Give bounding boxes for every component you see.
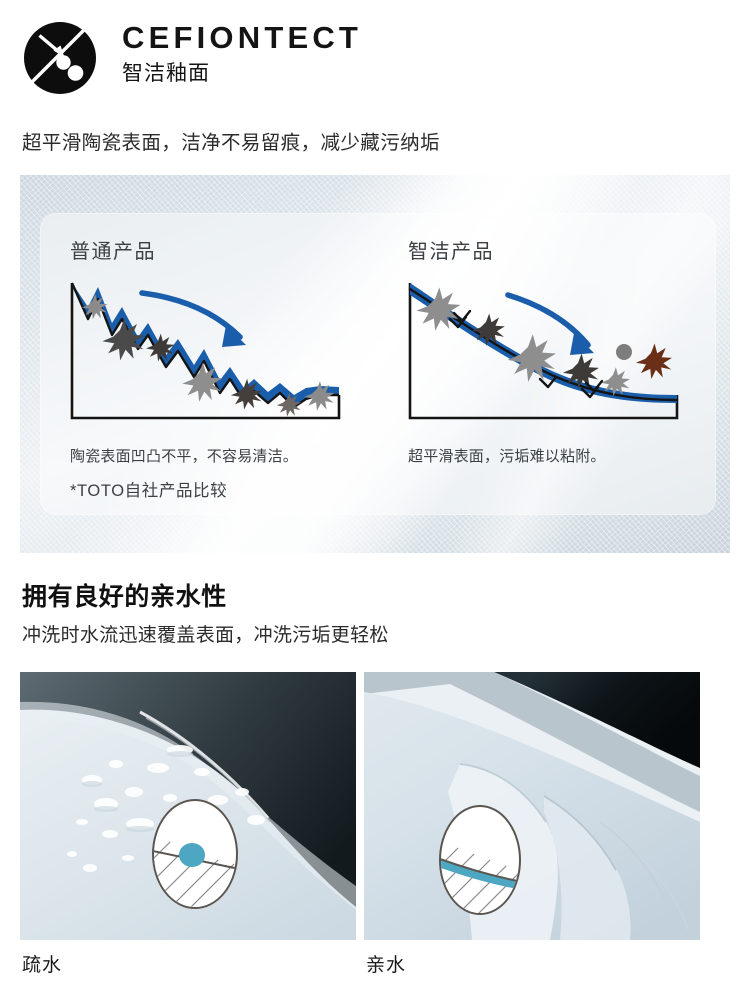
hydrophilic-subtitle: 冲洗时水流迅速覆盖表面，冲洗污垢更轻松 [22, 620, 389, 647]
comparison-card: 普通产品 [40, 213, 716, 515]
brand-subtitle: 智洁釉面 [122, 59, 362, 89]
dirt-particle [636, 344, 672, 380]
dirt-particle [616, 344, 632, 360]
rough-surface-diagram [54, 275, 354, 440]
brand-title: CEFIONTECT [122, 18, 362, 58]
panel-cefiontect-product: 智洁产品 [378, 213, 716, 515]
cefiontect-droplet-slide-icon [22, 20, 98, 96]
page-header: CEFIONTECT 智洁釉面 [22, 18, 722, 110]
photo-caption-hydrophobic: 疏水 [22, 950, 62, 977]
panel-caption: 陶瓷表面凹凸不平，不容易清洁。 [70, 445, 298, 466]
panel-title: 普通产品 [70, 235, 156, 264]
panel-note: *TOTO自社产品比较 [70, 477, 227, 501]
panel-caption: 超平滑表面，污垢难以粘附。 [408, 445, 606, 466]
panel-ordinary-product: 普通产品 [40, 213, 378, 515]
flow-arrow-icon [508, 295, 594, 355]
dirt-particle [472, 314, 505, 346]
photo-hydrophilic [364, 672, 700, 940]
hydrophilic-title: 拥有良好的亲水性 [22, 577, 227, 613]
lead-description: 超平滑陶瓷表面，洁净不易留痕，减少藏污纳垢 [22, 126, 440, 155]
smooth-surface-diagram [392, 275, 692, 440]
panel-title: 智洁产品 [408, 235, 494, 264]
photo-hydrophobic [20, 672, 356, 940]
brand-block: CEFIONTECT 智洁釉面 [122, 18, 362, 89]
comparison-band: 普通产品 [20, 175, 730, 553]
photo-caption-hydrophilic: 亲水 [366, 950, 406, 977]
cefiontect-product-page: CEFIONTECT 智洁釉面 超平滑陶瓷表面，洁净不易留痕，减少藏污纳垢 普通… [0, 0, 750, 1000]
flow-arrow-icon [142, 293, 246, 347]
